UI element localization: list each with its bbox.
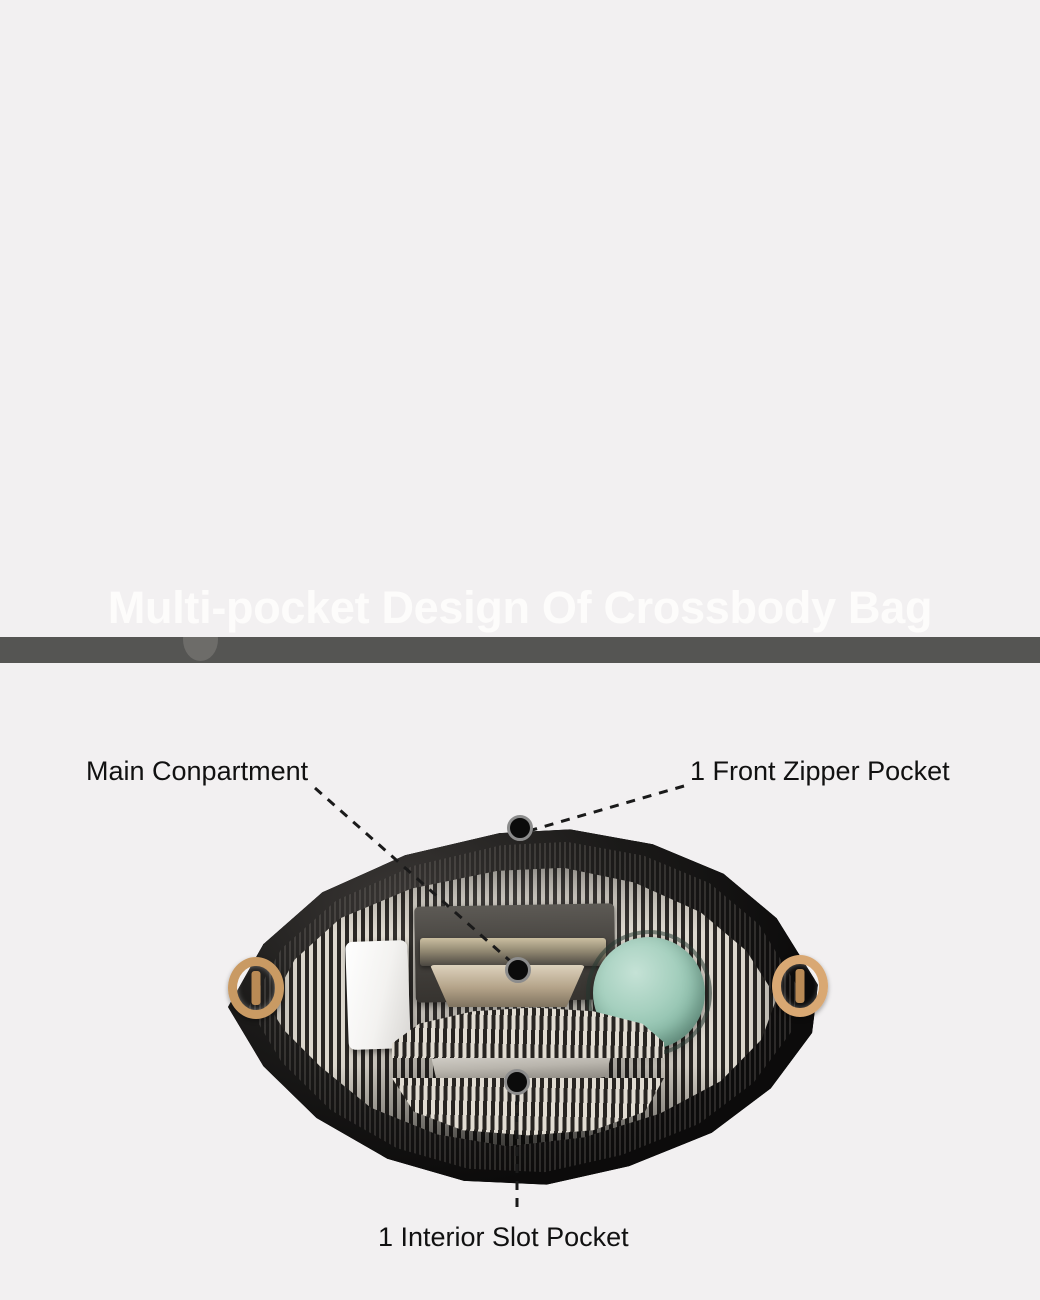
d-ring-hardware-right <box>772 955 828 1017</box>
bottom-product-section <box>0 0 1040 637</box>
bottom-product-photo <box>228 822 818 1192</box>
d-ring-hardware-left <box>228 957 284 1019</box>
callout-label-front-zipper-pocket: 1 Front Zipper Pocket <box>690 758 950 785</box>
callout-anchor-front-zipper-pocket <box>507 815 533 841</box>
callout-label-interior-slot-pocket: 1 Interior Slot Pocket <box>378 1224 629 1251</box>
content-mobile-phone <box>345 940 411 1050</box>
callout-anchor-interior-slot-pocket <box>504 1069 530 1095</box>
callout-anchor-main-compartment <box>505 957 531 983</box>
bag-body <box>228 822 818 1192</box>
banner-title: Multi-pocket Design Of Crossbody Bag <box>0 553 1040 663</box>
callout-label-main-compartment: Main Conpartment <box>86 758 308 785</box>
